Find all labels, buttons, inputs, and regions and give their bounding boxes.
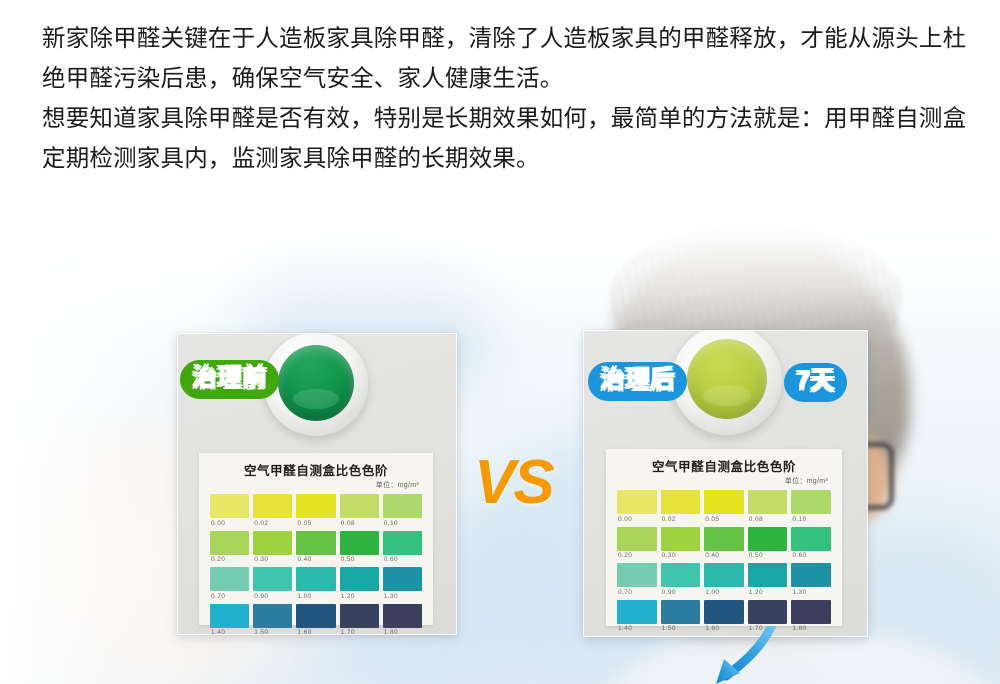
color-swatch-value: 0.20 [617,552,632,559]
color-swatch [383,494,422,518]
color-swatch-value: 0.60 [791,552,806,559]
badge-after-treatment: 治理后 [588,362,687,401]
color-swatch [791,490,831,514]
color-swatch-value: 0.50 [340,556,355,563]
color-swatch [617,600,657,624]
color-swatch [383,567,422,591]
color-swatch-cell: 1.60 [296,604,335,636]
curved-arrow-down-icon [700,626,830,684]
color-swatch-cell: 0.60 [383,531,422,565]
color-swatch [661,600,701,624]
color-swatch-cell: 1.30 [383,567,422,601]
color-swatch [340,604,379,628]
color-swatch [296,494,335,518]
color-swatch [253,531,292,555]
color-chart-unit: 单位：mg/m³ [606,476,842,486]
color-swatch-value: 1.40 [617,625,632,632]
color-swatch-cell: 0.90 [253,567,292,601]
color-swatch-value: 0.08 [340,520,355,527]
badge-before-treatment: 治理前 [180,360,279,399]
page-root: 新家除甲醛关键在于人造板家具除甲醛，清除了人造板家具的甲醛释放，才能从源头上杜绝… [0,0,1000,684]
color-swatch-value: 0.10 [791,516,806,523]
color-swatch-cell: 1.20 [748,563,788,597]
color-swatch-cell: 1.00 [296,567,335,601]
color-swatch [253,494,292,518]
color-swatch-value: 0.20 [210,556,225,563]
color-swatch-value: 0.05 [296,520,311,527]
color-swatch-cell: 0.05 [704,490,744,524]
color-swatch-cell: 0.30 [661,527,701,561]
color-swatch-value: 0.70 [210,593,225,600]
color-swatch-value: 0.00 [617,516,632,523]
color-swatch-cell: 0.70 [617,563,657,597]
color-chart-swatch-grid: 0.000.020.050.080.100.200.300.400.500.60… [199,490,433,635]
color-swatch-value: 0.60 [383,556,398,563]
color-swatch-cell: 0.40 [296,531,335,565]
color-swatch-value: 0.90 [661,589,676,596]
badge-seven-days: 7天 [784,363,847,402]
before-color-chart: 空气甲醛自测盒比色色阶 单位：mg/m³ 0.000.020.050.080.1… [199,453,433,625]
color-swatch-cell: 0.05 [296,494,335,528]
color-swatch-cell: 0.00 [210,494,249,528]
color-swatch [296,531,335,555]
color-swatch [704,563,744,587]
color-swatch [748,563,788,587]
color-swatch-cell: 1.50 [253,604,292,636]
color-swatch-value: 0.00 [210,520,225,527]
color-swatch [791,600,831,624]
color-swatch-value: 0.50 [748,552,763,559]
after-color-chart: 空气甲醛自测盒比色色阶 单位：mg/m³ 0.000.020.050.080.1… [606,449,842,626]
color-swatch-value: 0.90 [253,593,268,600]
color-swatch [704,527,744,551]
cup-meniscus [703,385,751,406]
color-swatch-value: 1.60 [296,629,311,635]
color-swatch-cell: 1.40 [617,600,657,634]
color-swatch-value: 1.20 [340,593,355,600]
color-swatch-value: 1.40 [210,629,225,635]
color-chart-title: 空气甲醛自测盒比色色阶 [199,453,433,479]
color-swatch [704,600,744,624]
color-swatch-cell: 0.10 [791,490,831,524]
color-swatch-value: 0.40 [296,556,311,563]
color-swatch-value: 0.08 [748,516,763,523]
color-swatch-cell: 1.00 [704,563,744,597]
color-swatch [661,527,701,551]
color-swatch [210,531,249,555]
color-swatch [296,567,335,591]
color-swatch-cell: 0.20 [210,531,249,565]
color-swatch [253,567,292,591]
color-swatch-cell: 0.40 [704,527,744,561]
after-cup-liquid [687,339,767,419]
color-swatch-cell: 1.50 [661,600,701,634]
color-swatch [748,527,788,551]
intro-text-block: 新家除甲醛关键在于人造板家具除甲醛，清除了人造板家具的甲醛释放，才能从源头上杜绝… [42,18,967,178]
color-swatch [340,494,379,518]
color-swatch-value: 0.70 [617,589,632,596]
intro-paragraph-2: 想要知道家具除甲醛是否有效，特别是长期效果如何，最简单的方法就是：用甲醛自测盒定… [42,98,967,178]
color-swatch-cell: 0.10 [383,494,422,528]
color-swatch-cell: 0.70 [210,567,249,601]
color-swatch [704,490,744,514]
color-chart-unit: 单位：mg/m³ [199,480,433,490]
color-swatch-value: 1.20 [748,589,763,596]
color-swatch [617,490,657,514]
color-swatch [617,527,657,551]
color-swatch [210,567,249,591]
color-swatch-value: 1.50 [661,625,676,632]
color-swatch-cell: 0.50 [340,531,379,565]
color-swatch-value: 1.70 [340,629,355,635]
color-swatch-cell: 0.90 [661,563,701,597]
color-swatch [748,490,788,514]
color-swatch-cell: 0.30 [253,531,292,565]
color-swatch-cell: 0.00 [617,490,657,524]
color-swatch-value: 0.10 [383,520,398,527]
intro-paragraph-1: 新家除甲醛关键在于人造板家具除甲醛，清除了人造板家具的甲醛释放，才能从源头上杜绝… [42,18,967,98]
color-swatch-cell: 0.02 [253,494,292,528]
color-swatch [661,563,701,587]
color-swatch-value: 1.80 [383,629,398,635]
color-swatch [210,604,249,628]
color-swatch [617,563,657,587]
color-swatch-cell: 0.60 [791,527,831,561]
color-swatch-cell: 0.20 [617,527,657,561]
color-swatch-value: 0.30 [253,556,268,563]
after-test-cup [672,330,782,435]
color-swatch [340,531,379,555]
color-chart-title: 空气甲醛自测盒比色色阶 [606,449,842,475]
color-swatch [383,604,422,628]
color-chart-swatch-grid: 0.000.020.050.080.100.200.300.400.500.60… [606,486,842,633]
color-swatch [748,600,788,624]
color-swatch-cell: 1.20 [340,567,379,601]
color-swatch-cell: 0.50 [748,527,788,561]
color-swatch-value: 1.30 [383,593,398,600]
color-swatch-value: 1.00 [296,593,311,600]
color-swatch [383,531,422,555]
color-swatch [253,604,292,628]
color-swatch-value: 0.05 [704,516,719,523]
color-swatch-cell: 0.08 [748,490,788,524]
color-swatch [791,527,831,551]
vs-label: VS [474,452,553,514]
color-swatch [661,490,701,514]
color-swatch-value: 1.00 [704,589,719,596]
color-swatch-value: 0.02 [661,516,676,523]
color-swatch [210,494,249,518]
cup-meniscus [293,389,339,409]
color-swatch-value: 1.30 [791,589,806,596]
before-test-cup [264,333,368,436]
color-swatch [791,563,831,587]
color-swatch-cell: 0.08 [340,494,379,528]
color-swatch-value: 1.50 [253,629,268,635]
before-cup-liquid [278,345,354,421]
color-swatch [296,604,335,628]
color-swatch [340,567,379,591]
color-swatch-value: 0.40 [704,552,719,559]
color-swatch-value: 0.30 [661,552,676,559]
color-swatch-cell: 1.30 [791,563,831,597]
color-swatch-cell: 0.02 [661,490,701,524]
color-swatch-cell: 1.70 [340,604,379,636]
color-swatch-cell: 1.40 [210,604,249,636]
color-swatch-value: 0.02 [253,520,268,527]
color-swatch-cell: 1.80 [383,604,422,636]
